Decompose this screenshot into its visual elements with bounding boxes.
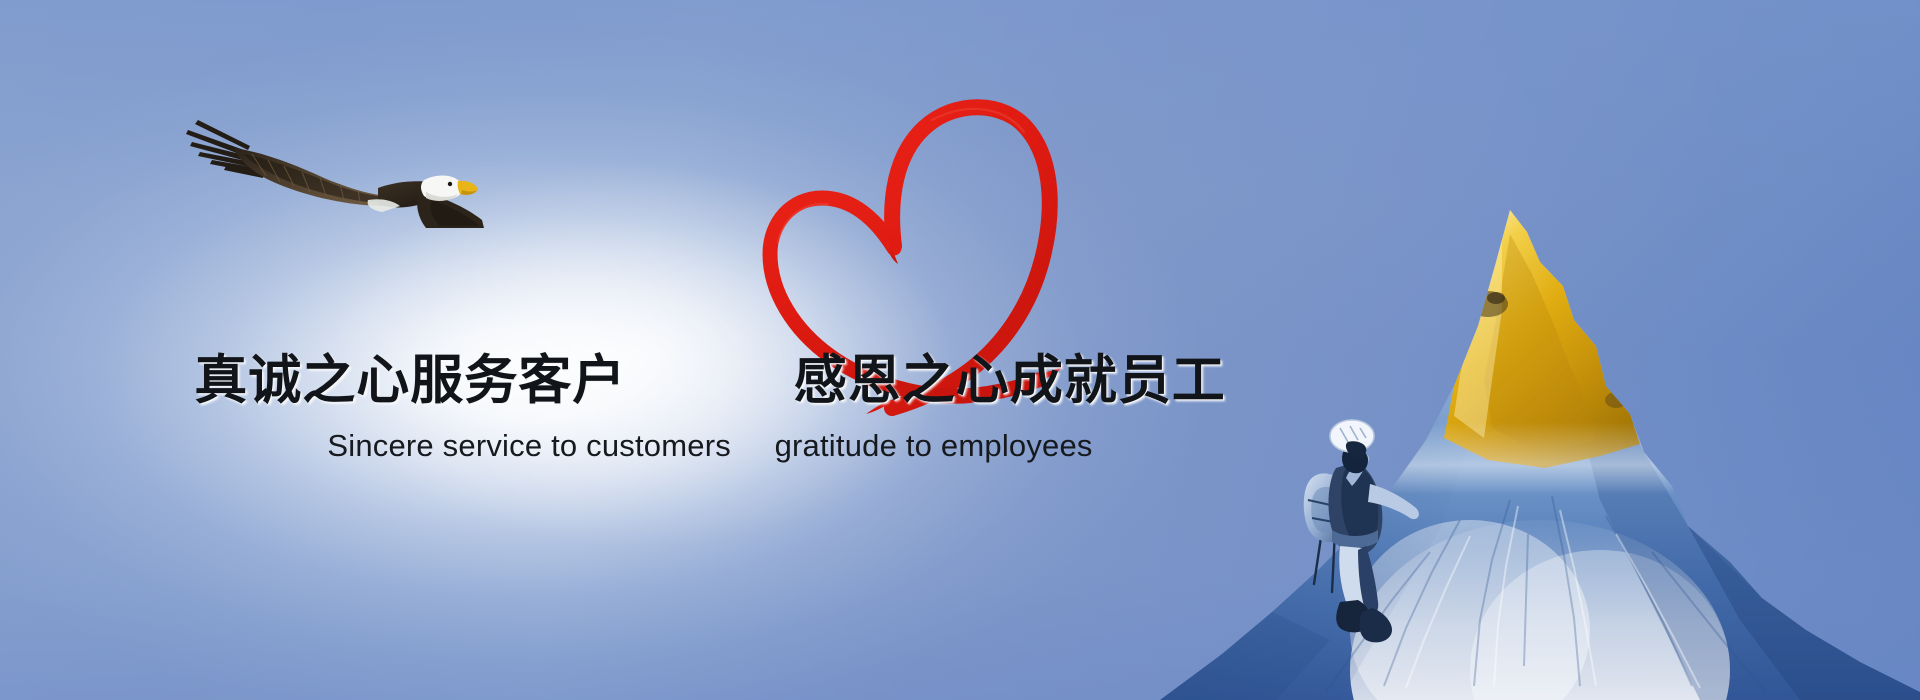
- eagle-illustration: [182, 88, 492, 228]
- subtitle-right-text: gratitude to employees: [775, 428, 1093, 463]
- subtitle-slogan: Sincere service to customers gratitude t…: [0, 428, 1420, 464]
- headline-slogan: 真诚之心服务客户 感恩之心成就员工: [0, 338, 1420, 414]
- corporate-culture-banner: 真诚之心服务客户 感恩之心成就员工 Sincere service to cus…: [0, 0, 1920, 700]
- headline-right-text: 感恩之心成就员工: [794, 338, 1226, 414]
- subtitle-left-text: Sincere service to customers: [327, 428, 731, 463]
- headline-left-text: 真诚之心服务客户: [194, 338, 626, 414]
